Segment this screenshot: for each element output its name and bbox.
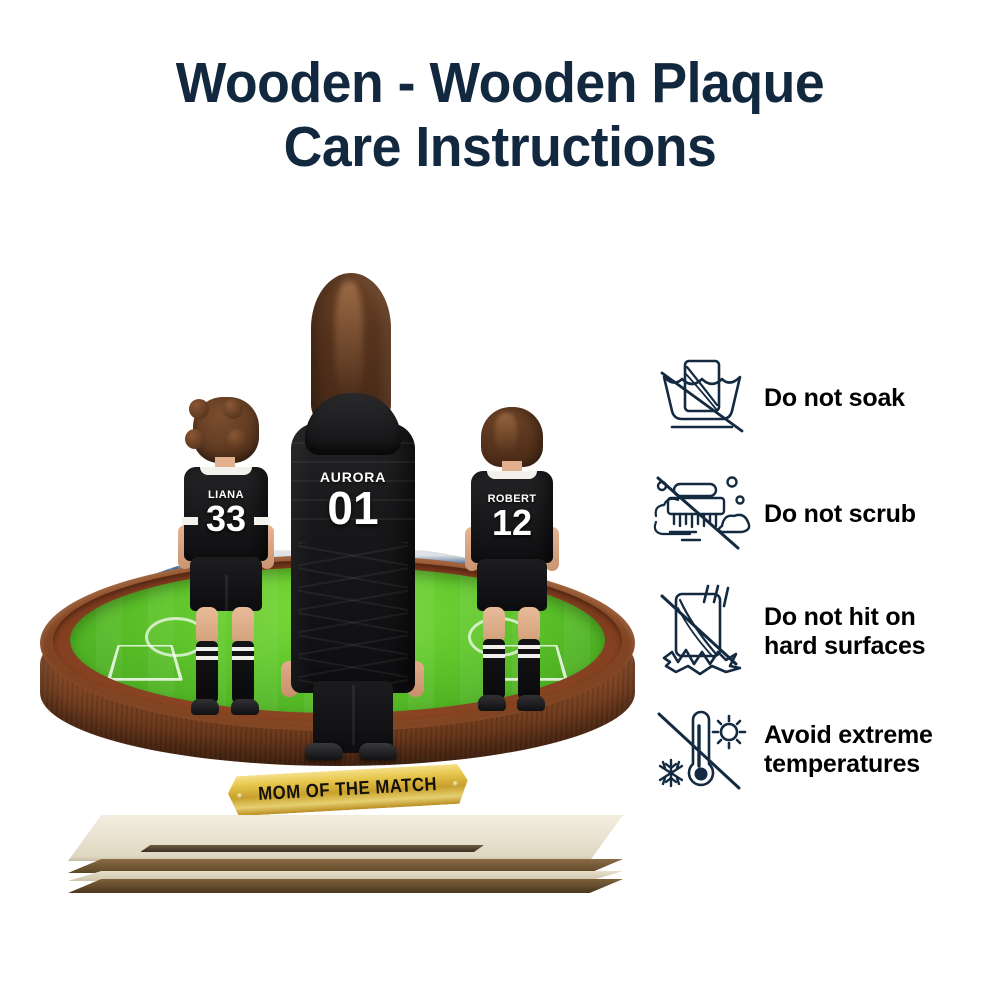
child-right-shorts bbox=[477, 559, 547, 611]
hair-bun-icon bbox=[185, 429, 205, 449]
child-left-jersey-number: 33 bbox=[184, 501, 268, 537]
child-right-shoe-left bbox=[478, 695, 506, 711]
no-scrub-icon bbox=[648, 472, 756, 556]
child-left-shoe-left bbox=[191, 699, 219, 715]
child-right-leg-right bbox=[518, 607, 540, 643]
sock-stripe bbox=[232, 647, 254, 651]
figure-child-right: ROBERT 12 bbox=[455, 407, 567, 747]
care-item-no-soak: Do not soak bbox=[648, 352, 988, 444]
child-left-sock-left bbox=[196, 641, 218, 703]
child-left-leg-right bbox=[232, 607, 254, 645]
no-impact-icon bbox=[648, 584, 756, 680]
child-left-shoe-right bbox=[231, 699, 259, 715]
mother-shoe-right bbox=[359, 743, 397, 760]
care-label-no-temperature: Avoid extreme temperatures bbox=[764, 721, 933, 779]
hair-bun-icon bbox=[189, 399, 209, 419]
stand-bottom-layer bbox=[68, 879, 623, 893]
sock-stripe bbox=[196, 656, 218, 660]
nameplate-text: MOM OF THE MATCH bbox=[258, 774, 438, 806]
child-left-sock-right bbox=[232, 641, 254, 703]
care-item-no-scrub: Do not scrub bbox=[648, 468, 988, 560]
sock-stripe bbox=[232, 656, 254, 660]
sock-stripe bbox=[483, 645, 505, 649]
mother-shoe-left bbox=[305, 743, 343, 760]
figure-child-left: LIANA 33 bbox=[170, 397, 282, 747]
page-title-line-1: Wooden - Wooden Plaque bbox=[30, 52, 970, 116]
child-right-leg-left bbox=[483, 607, 505, 643]
care-label-no-impact: Do not hit on hard surfaces bbox=[764, 603, 925, 661]
product-image: LIANA 33 AURORA 01 RO bbox=[40, 255, 660, 895]
screw-icon bbox=[237, 793, 243, 799]
hair-bun-icon bbox=[227, 429, 247, 449]
stand-top-layer bbox=[68, 815, 623, 861]
child-right-sock-right bbox=[518, 639, 540, 699]
care-item-no-temperature: Avoid extreme temperatures bbox=[648, 704, 988, 796]
sock-stripe bbox=[518, 654, 540, 658]
wooden-stand bbox=[68, 815, 623, 893]
child-left-leg-left bbox=[196, 607, 218, 645]
screw-icon bbox=[453, 781, 459, 787]
care-instructions-list: Do not soak bbox=[648, 352, 988, 820]
care-item-no-impact: Do not hit on hard surfaces bbox=[648, 584, 988, 680]
child-left-collar bbox=[200, 467, 252, 475]
care-label-no-scrub: Do not scrub bbox=[764, 500, 916, 529]
hair-bun-icon bbox=[223, 399, 243, 419]
mother-puffer-coat bbox=[291, 423, 415, 693]
no-temperature-icon bbox=[648, 704, 756, 796]
no-soak-icon bbox=[648, 353, 756, 443]
sock-stripe bbox=[483, 654, 505, 658]
child-left-shorts bbox=[190, 557, 262, 611]
stand-slot bbox=[140, 845, 484, 852]
child-right-hair bbox=[481, 407, 543, 467]
page-title: Wooden - Wooden Plaque Care Instructions bbox=[30, 52, 970, 180]
child-right-collar bbox=[487, 471, 537, 479]
page-title-line-2: Care Instructions bbox=[30, 116, 970, 180]
sock-stripe bbox=[518, 645, 540, 649]
figure-mother: AURORA 01 bbox=[283, 273, 423, 743]
care-label-no-soak: Do not soak bbox=[764, 384, 905, 413]
sock-stripe bbox=[196, 647, 218, 651]
child-right-jersey-number: 12 bbox=[471, 505, 553, 541]
stand-mid-layer bbox=[68, 859, 623, 873]
child-right-sock-left bbox=[483, 639, 505, 699]
mother-coat-number: 01 bbox=[283, 485, 423, 531]
child-right-shoe-right bbox=[517, 695, 545, 711]
